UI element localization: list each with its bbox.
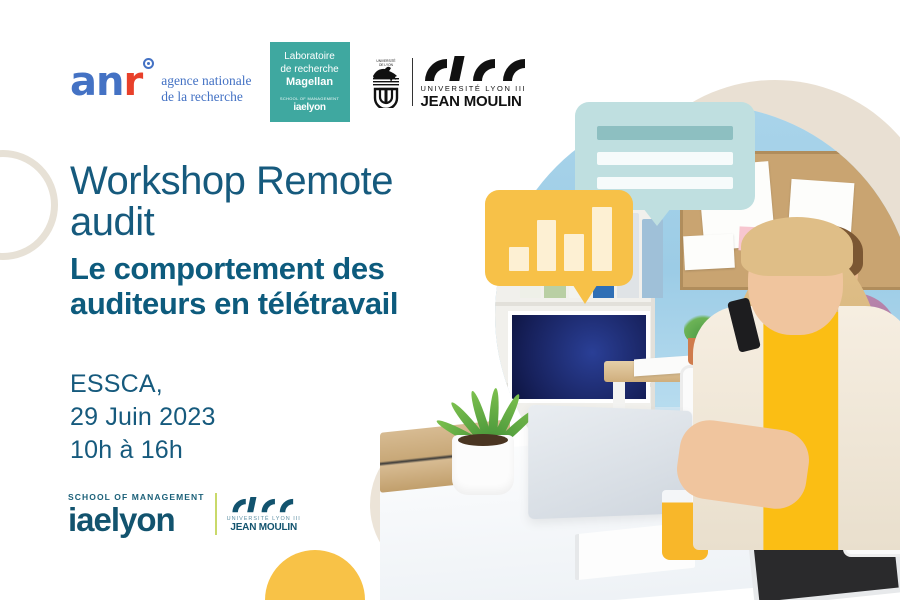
lyon3-title: JEAN MOULIN: [421, 93, 522, 110]
event-time: 10h à 16h: [70, 434, 216, 467]
arcs-svg: [230, 494, 298, 514]
magellan-line2: de recherche: [274, 64, 346, 76]
headline-line2-wrap: audit: [70, 201, 490, 244]
registered-mark-icon: [143, 58, 154, 69]
headline-line1: Workshop Remote: [70, 160, 393, 203]
iaelyon-moulin-text: JEAN MOULIN: [230, 522, 297, 533]
magellan-line1: Laboratoire: [274, 51, 346, 63]
jean-moulin-arcs-icon: [421, 55, 533, 81]
iaelyon-jeanmoulin-block: UNIVERSITÉ LYON III JEAN MOULIN: [227, 495, 301, 533]
magellan-school-text: SCHOOL OF MANAGEMENT: [274, 96, 346, 101]
headline-bold-block: Le comportement des auditeurs en télétra…: [70, 252, 490, 321]
anr-tagline: agence nationale de la recherche: [161, 73, 251, 105]
cardboard-boxes: [380, 419, 510, 493]
poster-canvas: anr agence nationale de la recherche Lab…: [0, 0, 900, 600]
headline-block: Workshop Remote audit Le comportement de…: [70, 160, 490, 322]
event-date: 29 Juin 2023: [70, 401, 216, 434]
desk-leg: [613, 382, 626, 474]
spiral-notepad: [575, 522, 695, 581]
iaelyon-name-text: iaelyon: [68, 504, 205, 535]
headline-line1-wrap: Workshop Remote: [70, 160, 490, 203]
event-venue: ESSCA,: [70, 368, 216, 401]
anr-tagline-line1: agence nationale: [161, 73, 251, 89]
headline-bold-line1: Le comportement des: [70, 252, 490, 287]
headline-bold-line2: auditeurs en télétravail: [70, 287, 490, 322]
lion-seal-svg: UNIVERSITÉ DE LYON: [368, 56, 404, 108]
anr-tagline-line2: de la recherche: [161, 89, 251, 105]
headline-line2: audit: [70, 201, 154, 244]
lyon3-text-block: UNIVERSITÉ LYON III JEAN MOULIN: [421, 55, 533, 110]
anr-wordmark: anr: [70, 62, 142, 102]
lyon3-subtitle: UNIVERSITÉ LYON III: [421, 84, 527, 93]
lyon-lion-seal-icon: UNIVERSITÉ DE LYON: [368, 56, 404, 108]
man-hair: [779, 224, 863, 279]
office-chair: [680, 365, 823, 525]
bubble-text-line: [597, 152, 734, 165]
iaelyon-footer-logo: SCHOOL OF MANAGEMENT iaelyon UNIVERSITÉ …: [68, 492, 301, 535]
bar-chart-icon: [509, 207, 613, 270]
book-row: [516, 416, 650, 492]
anr-r-text: r: [123, 59, 142, 105]
magellan-logo: Laboratoire de recherche Magellan SCHOOL…: [270, 42, 350, 122]
svg-text:DE LYON: DE LYON: [379, 63, 393, 67]
event-details: ESSCA, 29 Juin 2023 10h à 16h: [70, 368, 216, 467]
bubble-tail: [571, 282, 599, 304]
magellan-iaelyon-text: iaelyon: [274, 102, 346, 113]
iaelyon-wordmark: SCHOOL OF MANAGEMENT iaelyon: [68, 492, 205, 535]
bar-chart-speech-bubble: [485, 190, 633, 286]
bubble-header-bar: [597, 126, 734, 140]
bubble-text-line: [597, 177, 734, 190]
magellan-line3: Magellan: [274, 76, 346, 89]
decorative-ring-left: [0, 150, 58, 260]
corkboard-paper: [683, 234, 735, 270]
arcs-svg: [421, 54, 533, 81]
anr-an-text: an: [70, 59, 123, 105]
anr-logo: anr agence nationale de la recherche: [70, 59, 252, 105]
logo-divider: [215, 493, 217, 535]
lyon3-logo: UNIVERSITÉ DE LYON: [368, 55, 533, 110]
computer-monitor: [508, 311, 651, 403]
decorative-yellow-half-circle: [265, 550, 365, 600]
logo-divider: [412, 58, 413, 106]
bubble-tail: [643, 208, 671, 226]
illustration-photo: [495, 105, 900, 525]
jean-moulin-arcs-icon: [230, 495, 298, 514]
partner-logos: anr agence nationale de la recherche Lab…: [70, 42, 533, 122]
